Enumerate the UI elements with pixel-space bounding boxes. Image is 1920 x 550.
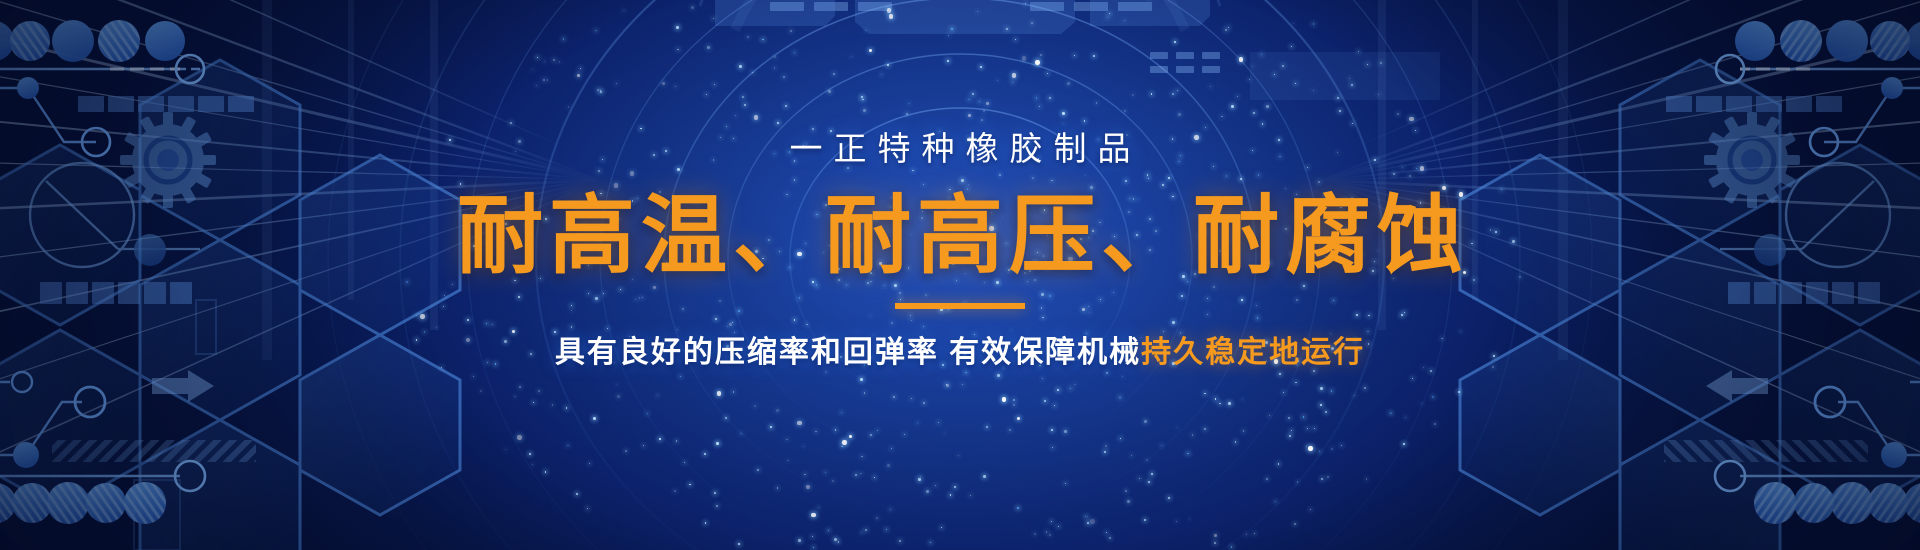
circuit-node-line-lower-right — [1838, 382, 1920, 455]
banner-eyebrow: 一正特种橡胶制品 — [779, 132, 1142, 165]
ring-circle-top-right — [1716, 55, 1744, 83]
diagonal-stripe-bar-left — [52, 440, 256, 462]
hero-banner: 一正特种橡胶制品 耐高温、耐高压、耐腐蚀 具有良好的压缩率和回弹率 有效保障机械… — [0, 0, 1920, 550]
node-dot-lower-right — [1881, 442, 1907, 468]
arrow-left-icon-right — [1706, 370, 1768, 402]
node-dot-left — [17, 77, 39, 99]
banner-subtitle-highlight: 持久稳定地运行 — [1141, 336, 1365, 369]
node-dot-right — [1881, 77, 1903, 99]
circle-row-top-left — [0, 20, 185, 62]
banner-subtitle: 具有良好的压缩率和回弹率 有效保障机械持久稳定地运行 — [555, 335, 1365, 371]
data-chip-row-top-left — [78, 96, 254, 112]
ring-circle-bottom-left — [175, 461, 205, 491]
circle-row-top-right — [1735, 20, 1920, 62]
diagonal-stripe-bar-right — [1664, 440, 1868, 462]
circle-row-bottom-left — [0, 482, 166, 524]
node-dot-lower-left — [13, 442, 39, 468]
data-chip-row-top-right — [1666, 96, 1842, 112]
circuit-node-line-lower-left — [0, 382, 82, 455]
arrow-right-icon-left — [152, 370, 214, 402]
accent-divider — [895, 303, 1025, 309]
ring-circle-lower-left — [75, 387, 105, 417]
ring-circle-lower-right — [1815, 387, 1845, 417]
circle-row-bottom-right — [1754, 482, 1920, 524]
ring-circle-top-left — [176, 55, 204, 83]
ring-circle-bottom-right — [1715, 461, 1745, 491]
banner-headline: 耐高温、耐高压、耐腐蚀 — [451, 191, 1469, 281]
banner-subtitle-plain: 具有良好的压缩率和回弹率 有效保障机械 — [555, 336, 1141, 369]
banner-content: 一正特种橡胶制品 耐高温、耐高压、耐腐蚀 具有良好的压缩率和回弹率 有效保障机械… — [0, 132, 1920, 371]
